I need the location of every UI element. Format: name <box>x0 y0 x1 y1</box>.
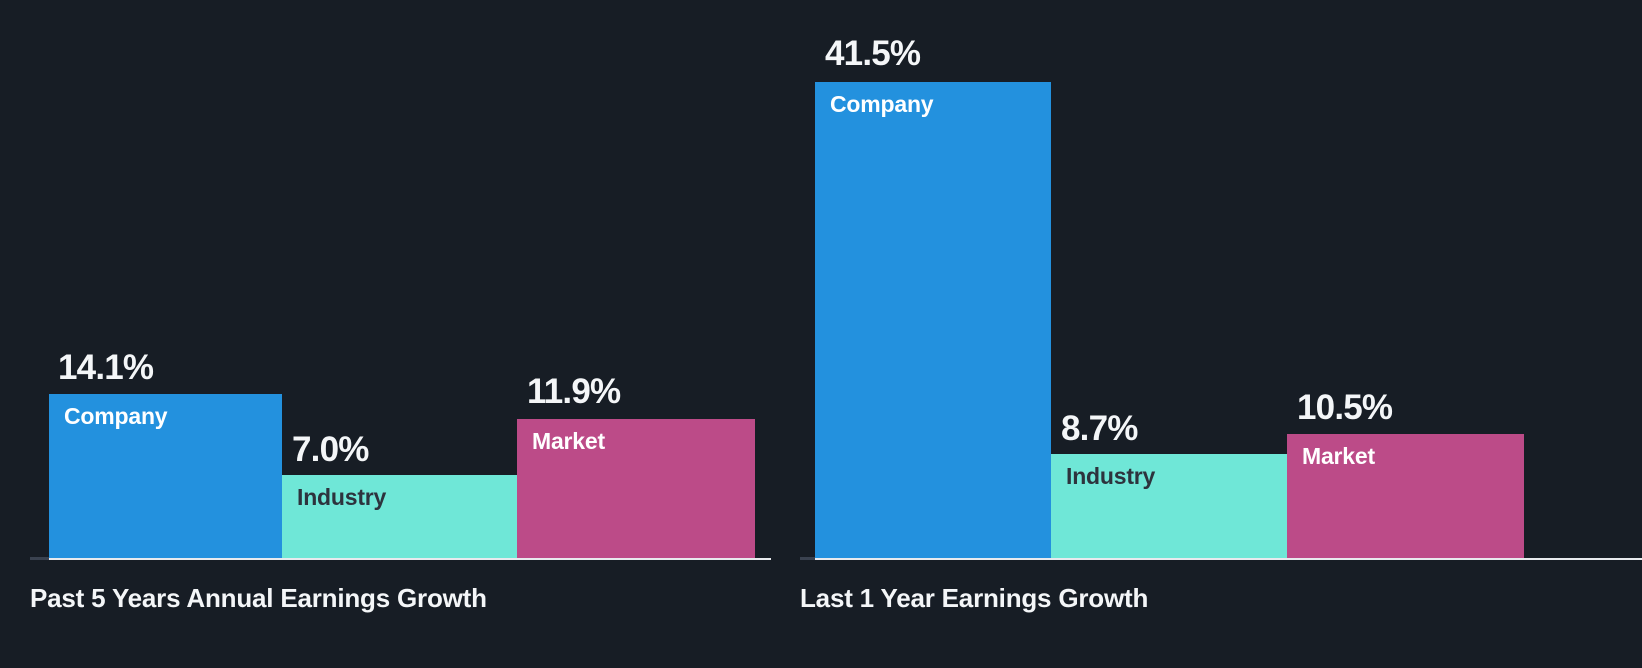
bar-series-name: Company <box>64 403 167 430</box>
bar-series-name: Industry <box>1066 463 1155 490</box>
value-label-market: 11.9% <box>527 372 620 412</box>
bar-market[interactable]: Market <box>1287 434 1524 558</box>
panel-past-5-years: 14.1% Company 7.0% Industry 11.9% Market… <box>0 0 800 668</box>
bar-company[interactable]: Company <box>815 82 1051 558</box>
earnings-growth-chart: 14.1% Company 7.0% Industry 11.9% Market… <box>0 0 1642 668</box>
bar-series-name: Company <box>830 91 933 118</box>
panel-axis-title: Last 1 Year Earnings Growth <box>800 583 1148 614</box>
bar-series-name: Market <box>532 428 605 455</box>
bar-industry[interactable]: Industry <box>1051 454 1287 558</box>
panel-axis-title: Past 5 Years Annual Earnings Growth <box>30 583 487 614</box>
value-label-company: 41.5% <box>825 34 920 74</box>
bar-market[interactable]: Market <box>517 419 755 558</box>
plot-area-right: 41.5% Company 8.7% Industry 10.5% Market <box>800 0 1642 560</box>
value-label-industry: 7.0% <box>292 430 369 470</box>
bar-series-name: Industry <box>297 484 386 511</box>
axis-baseline-left <box>49 558 771 560</box>
value-label-industry: 8.7% <box>1061 409 1138 449</box>
panel-last-1-year: 41.5% Company 8.7% Industry 10.5% Market… <box>800 0 1642 668</box>
bar-industry[interactable]: Industry <box>282 475 517 558</box>
bar-series-name: Market <box>1302 443 1375 470</box>
value-label-market: 10.5% <box>1297 388 1392 428</box>
bar-company[interactable]: Company <box>49 394 282 558</box>
value-label-company: 14.1% <box>58 348 153 388</box>
axis-baseline-right <box>815 558 1642 560</box>
plot-area-left: 14.1% Company 7.0% Industry 11.9% Market <box>0 0 800 560</box>
